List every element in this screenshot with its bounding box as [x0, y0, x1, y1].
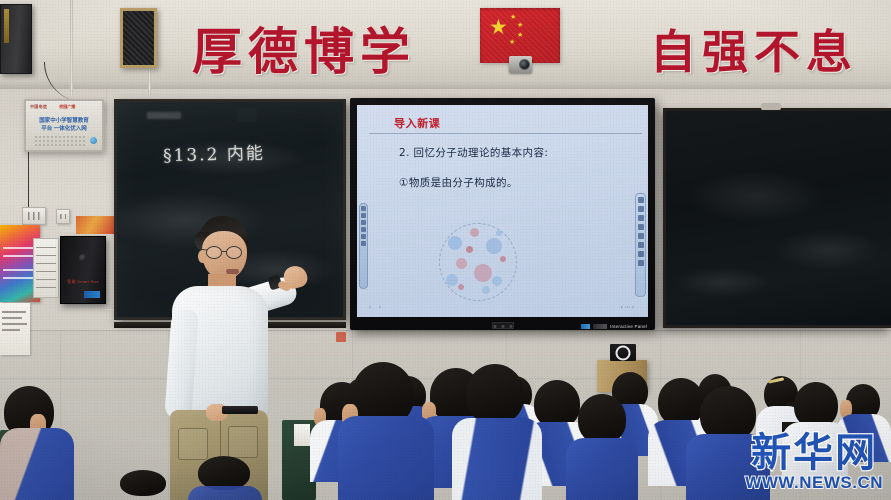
student-head [198, 456, 250, 490]
slide-nav-right[interactable]: ‹ ⋯ › [621, 304, 634, 311]
power-outlet[interactable] [56, 209, 70, 224]
board-clip [761, 103, 781, 110]
student-head [658, 378, 704, 426]
intercom-line-2: 平台 一体化优入网 [26, 125, 102, 133]
camera-lens [519, 59, 530, 70]
student-uniform [452, 418, 542, 500]
student-head [578, 394, 626, 444]
wall-seam [0, 88, 891, 89]
slide-title: 导入新课 [394, 115, 440, 131]
student-uniform [566, 438, 638, 500]
student-uniform [0, 428, 74, 500]
watermark-logo-text: 新华网 [745, 433, 883, 473]
slide-divider [369, 133, 642, 134]
pen-icon[interactable] [361, 206, 366, 211]
student-head [466, 364, 524, 424]
flag-star-small: ★ [510, 14, 516, 21]
flag-star-large: ★ [489, 17, 508, 38]
slide-page-indicator[interactable]: ‹ ⋯ › [621, 304, 634, 311]
shape-icon[interactable] [638, 224, 644, 230]
slide-toolbar-right[interactable] [635, 193, 646, 297]
wall-speaker-left [0, 4, 32, 74]
watermark-url-text: WWW.NEWS.CN [745, 473, 883, 492]
national-flag-of-china: ★ ★ ★ ★ ★ [480, 8, 560, 63]
wall-calligraphy-right: 自强不息 [650, 16, 858, 82]
wall-poster-small [76, 216, 114, 234]
capture-icon[interactable] [638, 242, 644, 248]
security-camera-icon [509, 56, 532, 73]
chalkboard-right [663, 108, 891, 328]
pc-box-label: 智能 Smart Box [61, 279, 105, 285]
power-button-icon[interactable] [79, 254, 87, 262]
screen-display[interactable]: 导入新课 2. 回忆分子动理论的基本内容: ①物质是由分子构成的。 [357, 105, 648, 317]
select-icon[interactable] [361, 234, 366, 239]
eraser-icon[interactable] [361, 213, 366, 218]
slide-line-2: ①物质是由分子构成的。 [399, 175, 518, 190]
laser-icon[interactable] [638, 233, 644, 239]
slide-line-1: 2. 回忆分子动理论的基本内容: [399, 145, 548, 160]
intercom-line-1: 国家中小学智慧教育 [26, 117, 102, 125]
undo-icon[interactable] [361, 241, 366, 246]
next-slide-icon[interactable]: › [379, 305, 381, 311]
text-icon[interactable] [361, 227, 366, 232]
interactive-smart-screen[interactable]: 导入新课 2. 回忆分子动理论的基本内容: ①物质是由分子构成的。 [350, 98, 655, 330]
chalkboard-text: §13.2 内能 [163, 139, 265, 167]
pause-icon[interactable] [638, 251, 644, 257]
student-head [534, 380, 580, 428]
shape-icon[interactable] [361, 220, 366, 225]
classroom-photo: 厚德博学 自强不息 ★ ★ ★ ★ ★ 中国电信 校园广播 国家中小学智慧教育 … [0, 0, 891, 500]
wall-calligraphy-left: 厚德博学 [192, 12, 416, 84]
slide-nav-left[interactable]: ‹ › [369, 305, 381, 311]
prev-slide-icon[interactable]: ‹ [369, 305, 371, 311]
wall-chart [33, 238, 59, 298]
molecule-diagram [439, 223, 517, 301]
power-outlet[interactable] [22, 207, 46, 225]
flag-star-small: ★ [517, 22, 523, 29]
student-head [120, 470, 166, 496]
more-icon[interactable] [638, 260, 644, 266]
brand-badge [84, 291, 100, 298]
intercom-brand-right: 校园广播 [59, 104, 75, 110]
wall-seam [106, 89, 107, 125]
slide-toolbar-left[interactable] [359, 203, 368, 289]
status-led-icon [90, 137, 97, 144]
wall-mounted-pc[interactable]: 智能 Smart Box [60, 236, 106, 304]
flag-star-small: ★ [517, 32, 523, 39]
student-uniform [188, 486, 262, 500]
intercom-brand-left: 中国电信 [30, 104, 47, 110]
eraser-icon[interactable] [638, 215, 644, 221]
eyeglasses-icon [206, 246, 250, 260]
news-watermark: 新华网 WWW.NEWS.CN [745, 433, 883, 492]
highlighter-icon[interactable] [638, 206, 644, 212]
classroom-intercom-panel[interactable]: 中国电信 校园广播 国家中小学智慧教育 平台 一体化优入网 [24, 99, 104, 152]
flag-star-small: ★ [509, 39, 515, 46]
speaker-grill [123, 11, 154, 65]
wall-speaker-right [120, 8, 157, 68]
pen-icon[interactable] [638, 197, 644, 203]
speaker-holes [34, 135, 86, 147]
student-uniform [338, 416, 434, 500]
